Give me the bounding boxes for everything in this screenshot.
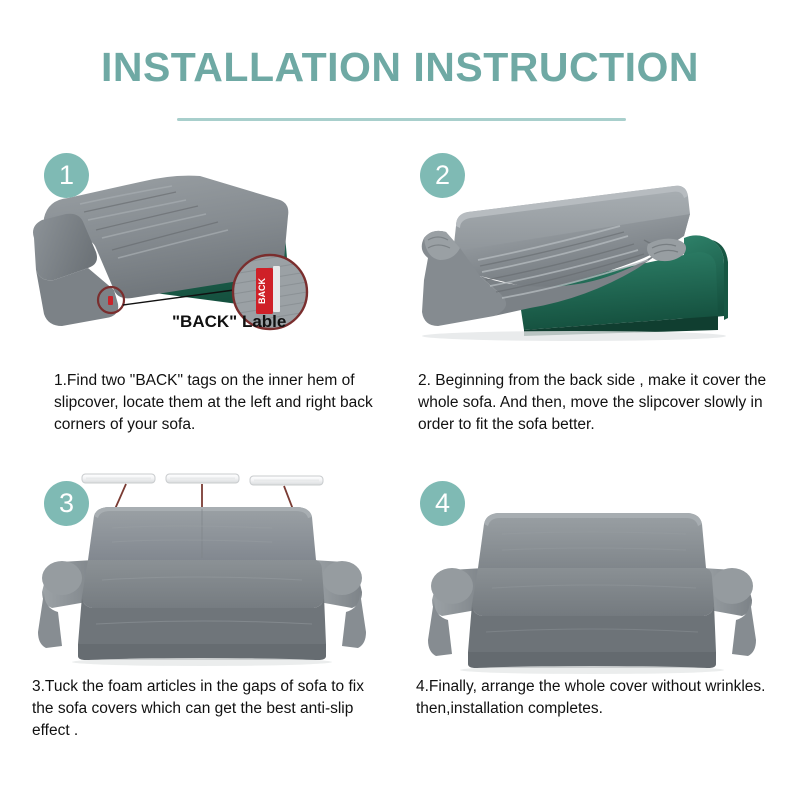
step-1-badge: 1 (44, 153, 89, 198)
installation-instruction-page: INSTALLATION INSTRUCTION (0, 0, 800, 800)
step-3: 3 3.Tuck the foam articles in the gaps o… (22, 468, 402, 683)
back-label-caption: "BACK" Lable (172, 312, 286, 332)
step-2-figure: 2 (398, 140, 778, 355)
step-1-caption: 1.Find two "BACK" tags on the inner hem … (54, 370, 384, 436)
title-divider (177, 118, 626, 121)
step-4-figure: 4 (398, 468, 778, 683)
step-4-caption: 4.Finally, arrange the whole cover witho… (416, 676, 776, 720)
step-1: BACK 1 "BACK" Lable 1.Find two "BACK" ta… (22, 140, 402, 355)
step-4: 4 4.Finally, arrange the whole cover wit… (398, 468, 778, 683)
page-title: INSTALLATION INSTRUCTION (0, 46, 800, 89)
steps-grid: BACK 1 "BACK" Lable 1.Find two "BACK" ta… (0, 140, 800, 800)
step-1-figure: BACK 1 "BACK" Lable (22, 140, 402, 355)
svg-text:BACK: BACK (257, 278, 267, 304)
step-4-badge: 4 (420, 481, 465, 526)
step-3-badge: 3 (44, 481, 89, 526)
step-3-caption: 3.Tuck the foam articles in the gaps of … (32, 676, 387, 742)
step-2-badge: 2 (420, 153, 465, 198)
page-header: INSTALLATION INSTRUCTION (0, 46, 800, 89)
step-3-figure: 3 (22, 468, 402, 683)
step-2-caption: 2. Beginning from the back side , make i… (418, 370, 768, 436)
step-2: 2 2. Beginning from the back side , make… (398, 140, 778, 355)
